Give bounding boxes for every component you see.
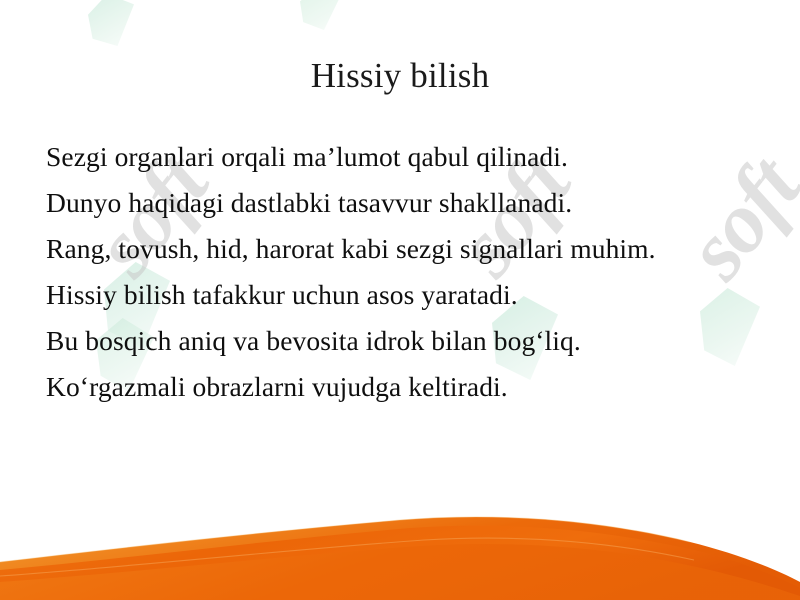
body-line: Ko‘rgazmali obrazlarni vujudga keltiradi… (46, 364, 746, 410)
body-line: Hissiy bilish tafakkur uchun asos yarata… (46, 272, 746, 318)
body-line: Dunyo haqidagi dastlabki tasavvur shakll… (46, 180, 746, 226)
body-line: Sezgi organlari orqali ma’lumot qabul qi… (46, 134, 746, 180)
slide-body: Sezgi organlari orqali ma’lumot qabul qi… (46, 134, 746, 410)
green-accent-shape-bottom-right (706, 566, 762, 600)
body-line: Bu bosqich aniq va bevosita idrok bilan … (46, 318, 746, 364)
green-accent-shape-top-left (88, 0, 134, 46)
body-line: Rang, tovush, hid, harorat kabi sezgi si… (46, 226, 746, 272)
green-accent-shape-top-right (300, 0, 340, 30)
presentation-slide: soft soft soft Hissiy bilish Sezgi organ… (0, 0, 800, 600)
slide-title: Hissiy bilish (0, 54, 800, 98)
orange-wave-decoration (0, 490, 800, 600)
